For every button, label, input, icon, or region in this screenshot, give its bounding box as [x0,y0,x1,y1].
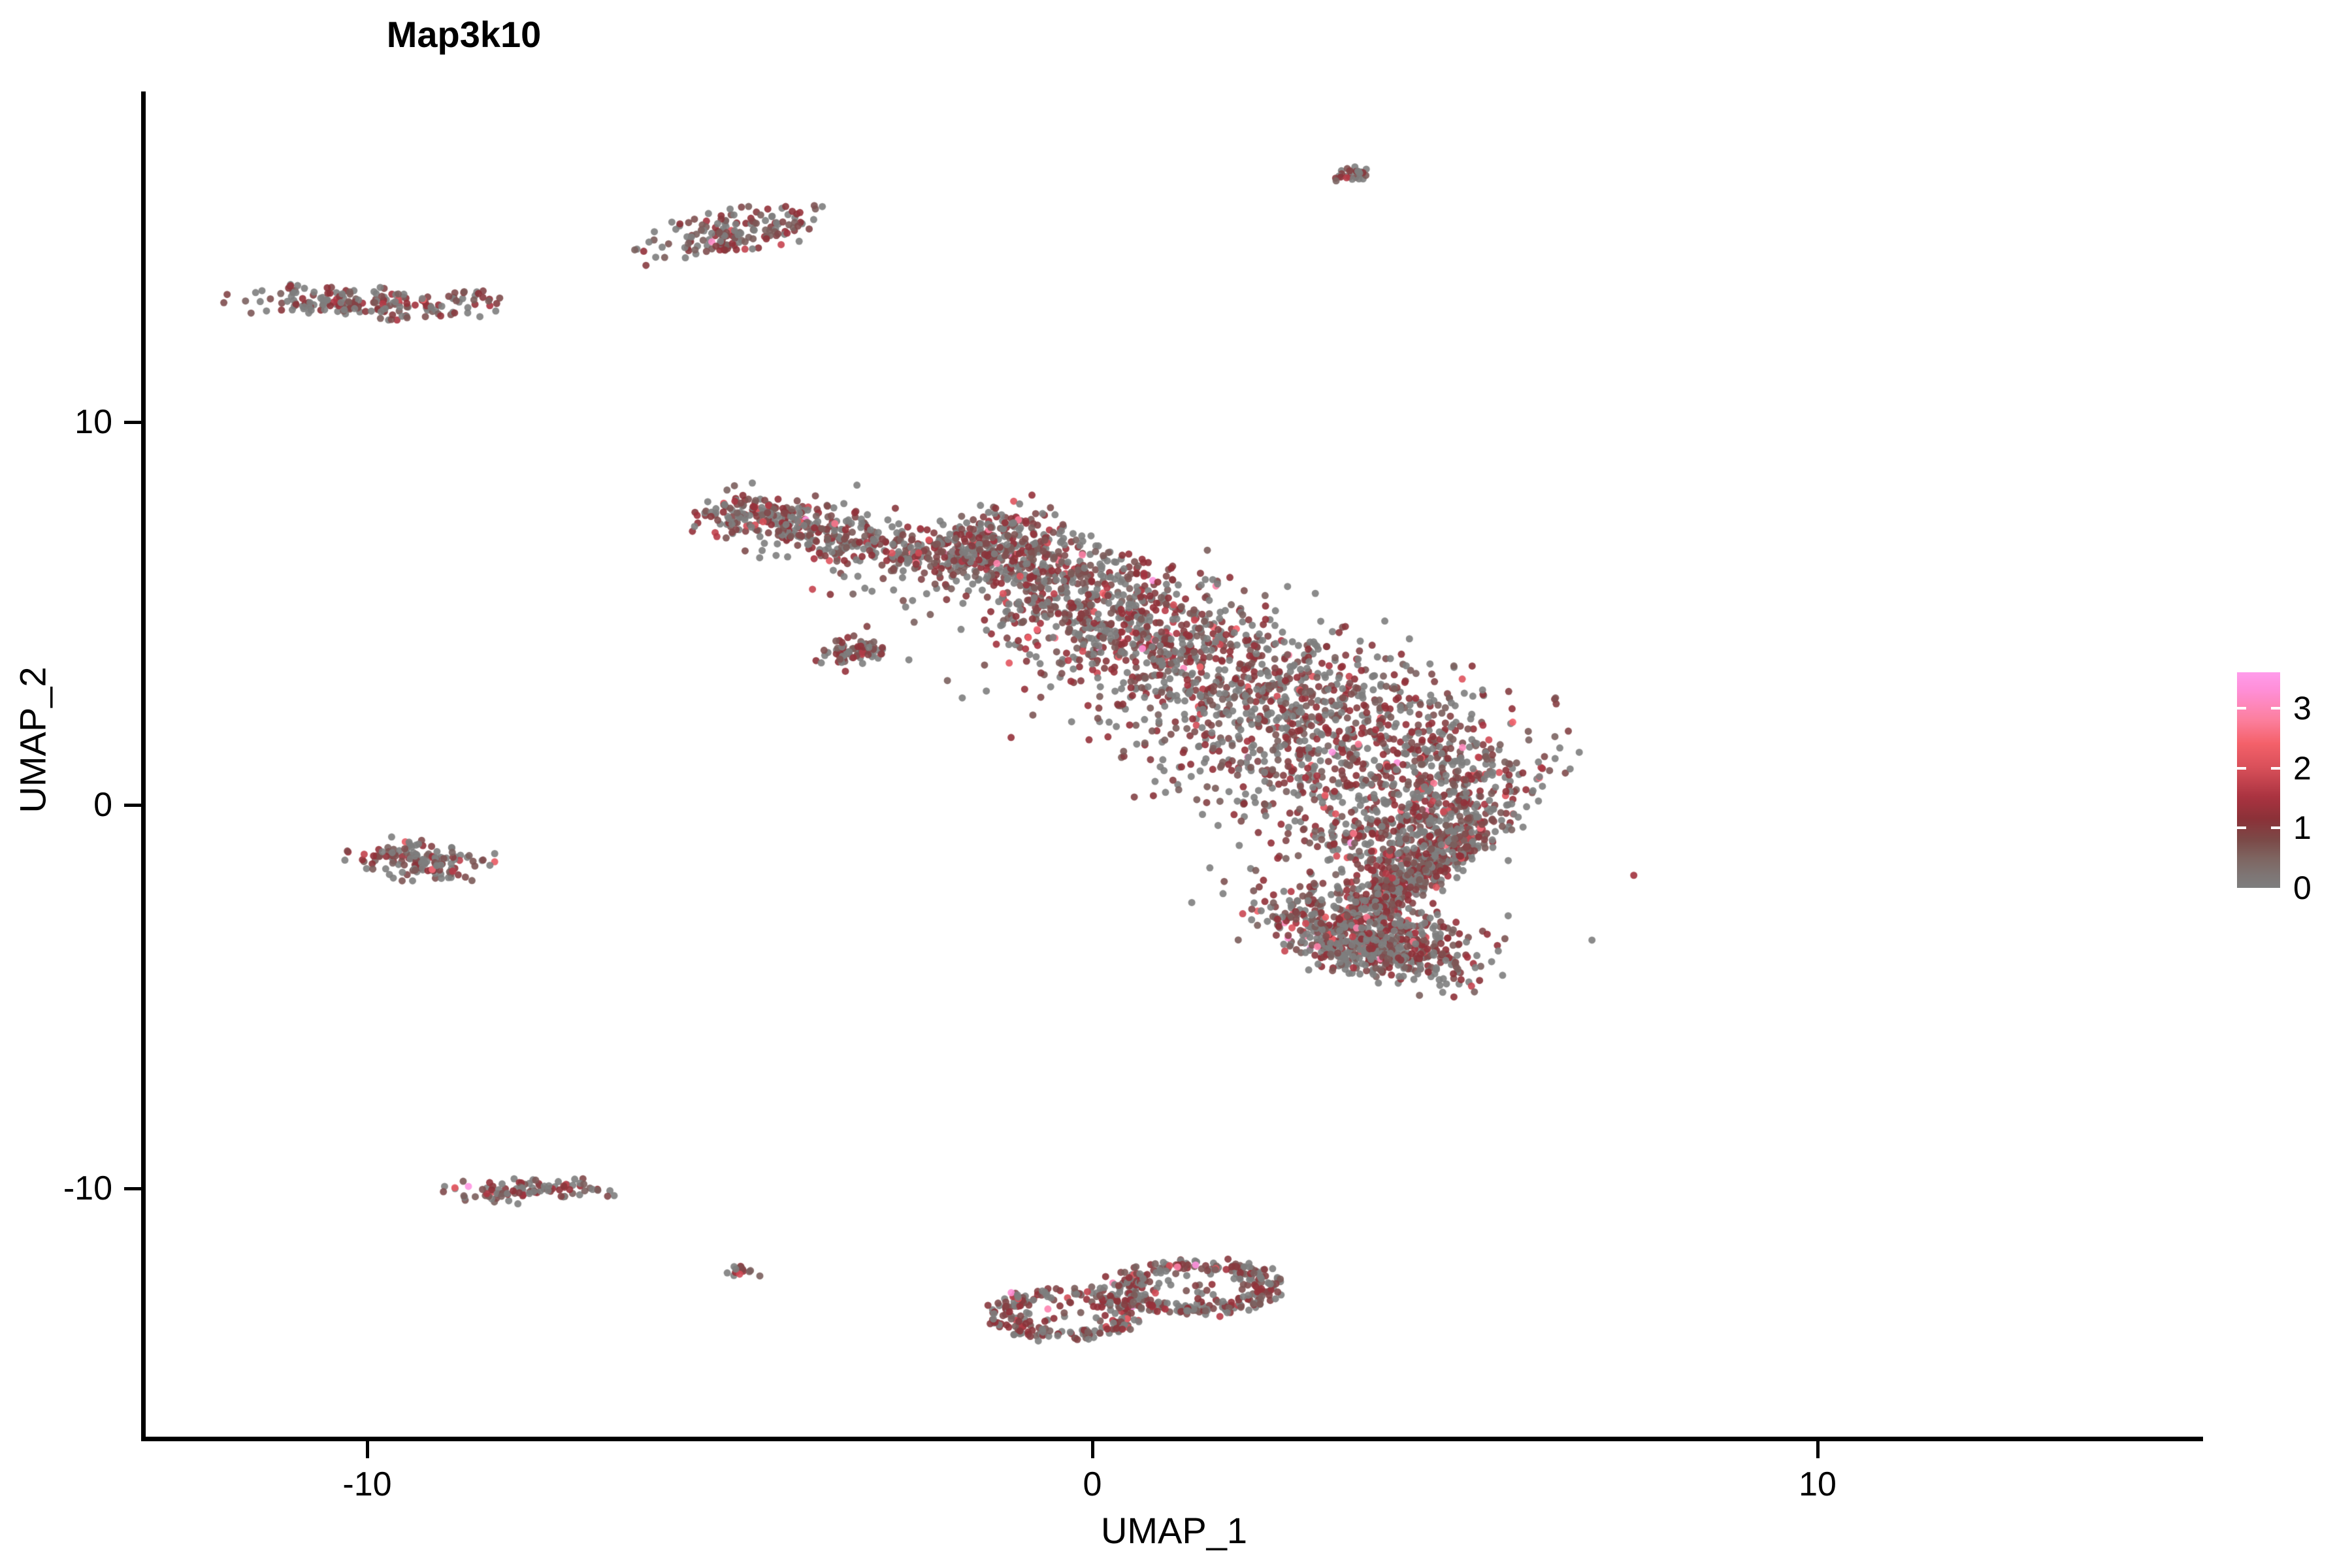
x-tick-label: 10 [1799,1465,1837,1504]
x-axis-line [141,1437,2203,1441]
legend-tick-label: 3 [2293,689,2311,727]
y-tick-mark [124,804,141,807]
y-tick-label: -10 [63,1169,112,1208]
legend-tick-mark [2271,707,2280,710]
legend-tick-mark [2237,826,2246,829]
y-axis-label: UMAP_2 [12,512,54,969]
legend-colorbar [2237,672,2280,888]
legend-tick-mark [2237,707,2246,710]
x-tick-label: 0 [1083,1465,1102,1504]
y-tick-mark [124,1187,141,1190]
x-tick-mark [1091,1441,1094,1458]
legend-tick-mark [2237,767,2246,770]
umap-feature-plot: Map3k10 -10010 100-10 UMAP_1 UMAP_2 3210 [0,0,2352,1568]
y-tick-label: 10 [74,402,112,442]
y-tick-label: 0 [93,785,112,825]
y-tick-mark [124,421,141,424]
plot-panel [145,91,2203,1439]
legend-tick-label: 0 [2293,869,2311,907]
x-tick-mark [366,1441,369,1458]
legend-tick-label: 2 [2293,749,2311,787]
x-tick-mark [1816,1441,1820,1458]
legend-tick-label: 1 [2293,809,2311,847]
x-tick-label: -10 [342,1465,391,1504]
x-axis-label: UMAP_1 [145,1509,2203,1552]
legend-tick-mark [2271,767,2280,770]
color-legend: 3210 [2237,672,2280,888]
legend-tick-mark [2271,826,2280,829]
page-title: Map3k10 [0,13,1640,56]
y-axis-line [141,91,146,1441]
